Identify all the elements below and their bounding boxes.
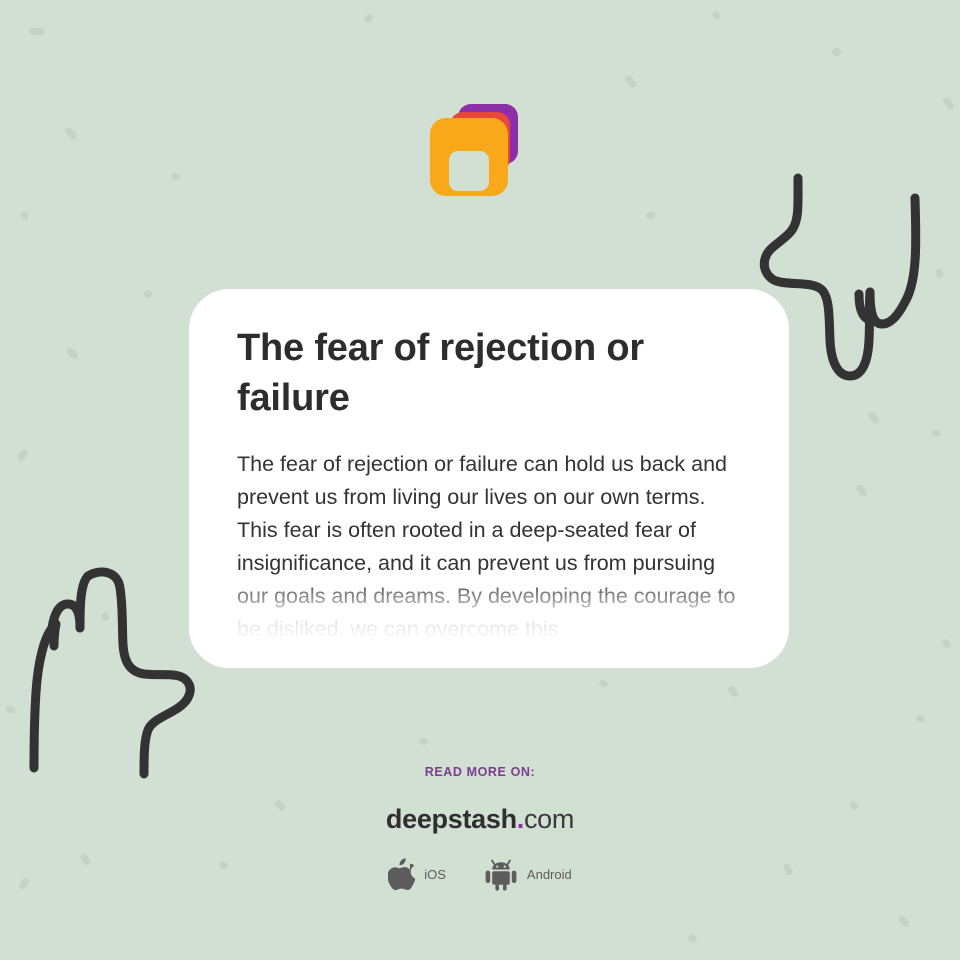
- logo-inner-cutout: [449, 151, 489, 191]
- background-speck: [20, 210, 30, 221]
- apple-icon: [388, 858, 415, 891]
- idea-card: The fear of rejection or failure The fea…: [189, 289, 789, 668]
- background-speck: [711, 10, 721, 21]
- ios-label: iOS: [424, 867, 446, 882]
- idea-card-content: The fear of rejection or failure The fea…: [189, 289, 789, 646]
- deepstash-idea-poster: The fear of rejection or failure The fea…: [0, 0, 960, 960]
- background-speck: [687, 933, 698, 944]
- read-more-label: READ MORE ON:: [0, 765, 960, 779]
- background-speck: [931, 429, 942, 439]
- background-speck: [646, 212, 655, 219]
- ios-store-badge[interactable]: iOS: [388, 858, 446, 891]
- background-speck: [16, 448, 30, 462]
- background-speck: [934, 268, 945, 279]
- deepstash-logo-icon: [430, 104, 518, 196]
- background-speck: [915, 713, 926, 724]
- background-speck: [941, 638, 952, 649]
- logo-layer-amber: [430, 118, 508, 196]
- background-speck: [64, 126, 79, 141]
- background-speck: [65, 347, 79, 361]
- background-speck: [867, 410, 881, 424]
- deepstash-wordmark[interactable]: deepstash.com: [0, 804, 960, 835]
- background-speck: [5, 704, 16, 714]
- background-speck: [855, 483, 868, 498]
- background-speck: [727, 685, 740, 699]
- background-speck: [624, 74, 638, 88]
- wordmark-dot: .: [517, 804, 524, 834]
- background-speck: [363, 13, 374, 24]
- android-label: Android: [527, 867, 572, 882]
- background-speck: [101, 611, 109, 621]
- android-icon: [484, 858, 518, 891]
- idea-body-text: The fear of rejection or failure can hol…: [237, 448, 741, 646]
- background-speck: [419, 738, 428, 745]
- pointing-hand-bottom-left-illustration: [26, 562, 206, 784]
- background-speck: [170, 172, 180, 180]
- app-store-badges: iOS And: [0, 858, 960, 891]
- background-speck: [143, 289, 153, 299]
- background-speck: [942, 96, 955, 111]
- background-speck: [598, 678, 609, 689]
- idea-title: The fear of rejection or failure: [237, 323, 741, 423]
- poster-footer: READ MORE ON: deepstash.com iOS: [0, 765, 960, 891]
- android-store-badge[interactable]: Android: [484, 858, 572, 891]
- wordmark-name: deepstash: [386, 804, 517, 834]
- background-speck: [29, 28, 45, 36]
- background-speck: [831, 46, 843, 57]
- background-speck: [897, 915, 910, 929]
- wordmark-tld: com: [524, 804, 574, 834]
